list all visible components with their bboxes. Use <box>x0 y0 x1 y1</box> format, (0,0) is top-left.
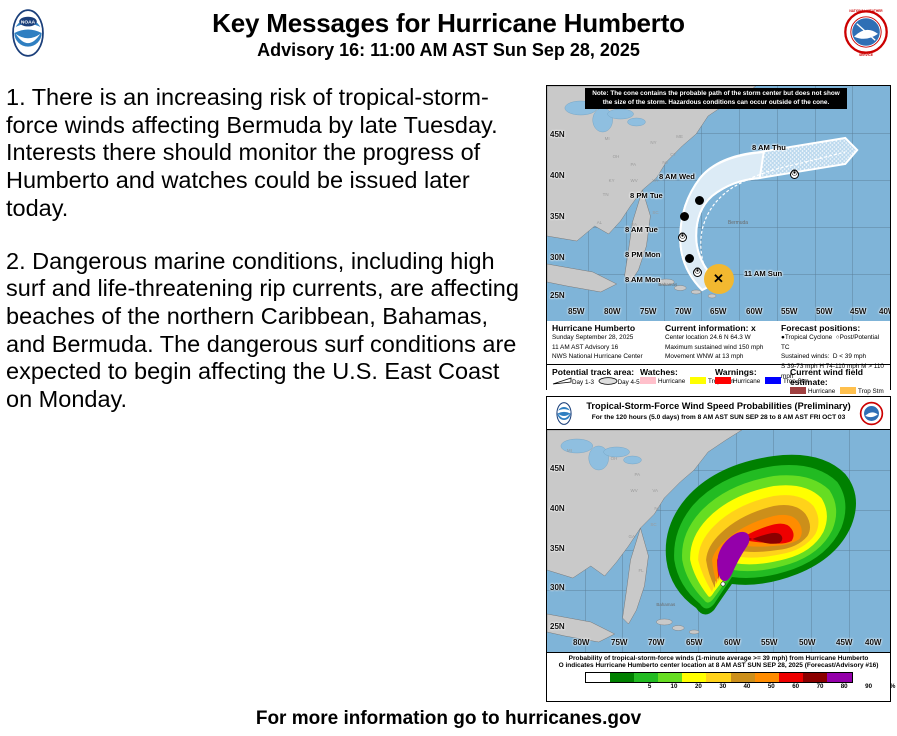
colorbar-tick-30: 30 <box>719 683 726 690</box>
prob-lon-70w: 70W <box>648 638 664 647</box>
colorbar-band-90 <box>827 673 851 682</box>
svg-text:PA: PA <box>634 472 640 477</box>
svg-text:OH: OH <box>613 154 620 159</box>
legend-movement: Movement WNW at 13 mph <box>665 352 783 362</box>
page-header: NOAA NATIONAL WEATHER SERVICE Key Messag… <box>0 0 897 72</box>
prob-lat-25n: 25N <box>550 622 565 631</box>
colorbar-band-5 <box>610 673 634 682</box>
wind-hurricane-swatch <box>790 387 806 394</box>
track-lon-65w: 65W <box>710 307 726 316</box>
track-lon-80w: 80W <box>604 307 620 316</box>
track-legend: Hurricane Humberto Sunday September 28, … <box>547 321 890 392</box>
svg-text:WV: WV <box>631 488 638 493</box>
track-label-8pm-mon: 8 PM Mon <box>625 250 660 259</box>
prob-colorbar-legend: Probability of tropical-storm-force wind… <box>547 652 890 694</box>
track-map: MINYME PAOHWV VAKYTN NCSCGA ALFL NJCT Be… <box>547 86 890 321</box>
colorbar-tick-5: 5 <box>648 683 651 690</box>
prob-lat-35n: 35N <box>550 544 565 553</box>
track-lon-50w: 50W <box>816 307 832 316</box>
track-lon-60w: 60W <box>746 307 762 316</box>
forecast-dot-8pm-tue <box>680 212 689 221</box>
warn-hurricane-swatch <box>715 377 731 384</box>
prob-lon-60w: 60W <box>724 638 740 647</box>
prob-lat-40n: 40N <box>550 504 565 513</box>
prob-map-title: Tropical-Storm-Force Wind Speed Probabil… <box>547 401 890 411</box>
colorbar-band-10 <box>634 673 658 682</box>
watch-tropstm-swatch <box>690 377 706 384</box>
legend-sustained-row: Sustained winds: D < 39 mph <box>781 352 889 362</box>
svg-text:SC: SC <box>652 210 659 215</box>
legend-storm-advisory: 11 AM AST Advisory 16 <box>552 343 677 353</box>
svg-text:VA: VA <box>652 178 658 183</box>
legend-current-heading: Current information: x <box>665 323 783 333</box>
prob-colorbar <box>585 672 853 683</box>
svg-text:MI: MI <box>605 136 610 141</box>
cone-note: Note: The cone contains the probable pat… <box>585 88 847 109</box>
prob-lon-axis: 80W 75W 70W 65W 60W 55W 50W 45W 40W <box>547 638 890 651</box>
svg-text:OH: OH <box>611 456 618 461</box>
prob-map-header: Tropical-Storm-Force Wind Speed Probabil… <box>547 397 890 430</box>
nws-logo-small <box>859 400 884 427</box>
prob-lat-30n: 30N <box>550 583 565 592</box>
colorbar-tick-20: 20 <box>695 683 702 690</box>
track-label-11am-sun: 11 AM Sun <box>744 269 782 278</box>
track-label-8am-wed: 8 AM Wed <box>659 172 695 181</box>
warn-tropstm-swatch <box>765 377 781 384</box>
colorbar-band-30 <box>682 673 706 682</box>
svg-text:TN: TN <box>603 192 609 197</box>
current-position-marker: ✕ <box>713 273 724 285</box>
svg-text:PA: PA <box>631 162 637 167</box>
forecast-dot-8am-mon: ⦿ <box>693 268 702 277</box>
legend-storm-agency: NWS National Hurricane Center <box>552 352 677 362</box>
svg-text:GA: GA <box>629 534 635 539</box>
track-lon-70w: 70W <box>675 307 691 316</box>
key-messages-page: NOAA NATIONAL WEATHER SERVICE Key Messag… <box>0 0 897 736</box>
svg-text:NC: NC <box>654 506 661 511</box>
colorbar-tick-80: 80 <box>841 683 848 690</box>
legend-track-heading: Potential track area: <box>552 367 640 377</box>
prob-map-subtitle: For the 120 hours (5.0 days) from 8 AM A… <box>547 414 890 421</box>
svg-text:ME: ME <box>676 134 683 139</box>
colorbar-band-20 <box>658 673 682 682</box>
track-forecast-panel: MINYME PAOHWV VAKYTN NCSCGA ALFL NJCT Be… <box>546 85 891 390</box>
track-lon-75w: 75W <box>640 307 656 316</box>
legend-symbol-row: ●Tropical Cyclone ○Post/Potential TC <box>781 333 889 352</box>
colorbar-band-lt5 <box>586 673 610 682</box>
track-lat-35n: 35N <box>550 212 565 221</box>
wind-probability-panel: Tropical-Storm-Force Wind Speed Probabil… <box>546 396 891 702</box>
prob-lon-65w: 65W <box>686 638 702 647</box>
track-lon-axis: 85W 80W 75W 70W 65W 60W 55W 50W 45W 40W <box>547 307 890 320</box>
legend-track-swatches: Day 1-3 Day 4-5 <box>552 377 640 386</box>
track-lon-40w: 40W <box>879 307 890 316</box>
track-lat-45n: 45N <box>550 130 565 139</box>
svg-text:CT: CT <box>670 152 676 157</box>
key-messages-list: 1. There is an increasing risk of tropic… <box>6 84 526 414</box>
page-title: Key Messages for Hurricane Humberto <box>0 8 897 39</box>
track-label-8am-mon: 8 AM Mon <box>625 275 661 284</box>
prob-caption-2: O indicates Hurricane Humberto center lo… <box>547 662 890 669</box>
colorbar-tick-90: 90 <box>865 683 872 690</box>
prob-lon-80w: 80W <box>573 638 589 647</box>
colorbar-tick-60: 60 <box>792 683 799 690</box>
forecast-dot-8am-thu: ⦿ <box>790 170 799 179</box>
watch-hurricane-swatch <box>640 377 656 384</box>
colorbar-tick-50: 50 <box>768 683 775 690</box>
svg-text:SC: SC <box>650 522 657 527</box>
key-message-1: 1. There is an increasing risk of tropic… <box>6 84 526 223</box>
key-message-2: 2. Dangerous marine conditions, includin… <box>6 248 526 414</box>
prob-colorbar-ticks: 5 10 20 30 40 50 60 70 80 90 % <box>585 683 853 694</box>
colorbar-tick-10: 10 <box>671 683 678 690</box>
day45-cone-icon <box>598 377 618 385</box>
colorbar-band-80 <box>803 673 827 682</box>
current-position-symbol: x <box>751 323 756 333</box>
legend-forecast-heading: Forecast positions: <box>781 323 889 333</box>
legend-center-location: Center location 24.6 N 64.3 W <box>665 333 783 343</box>
svg-text:VA: VA <box>652 488 658 493</box>
prob-lon-55w: 55W <box>761 638 777 647</box>
track-lat-25n: 25N <box>550 291 565 300</box>
svg-text:NJ: NJ <box>662 160 667 165</box>
svg-text:MI: MI <box>567 448 572 453</box>
colorbar-band-50 <box>731 673 755 682</box>
legend-storm-date: Sunday September 28, 2025 <box>552 333 677 343</box>
colorbar-band-60 <box>755 673 779 682</box>
track-lon-85w: 85W <box>568 307 584 316</box>
day13-cone-icon <box>552 377 572 385</box>
prob-lat-45n: 45N <box>550 464 565 473</box>
track-label-8am-tue: 8 AM Tue <box>625 225 658 234</box>
legend-storm-name: Hurricane Humberto <box>552 323 677 333</box>
legend-wind-swatches: Hurricane Trop Stm <box>790 387 890 395</box>
legend-wind-heading: Current wind field estimate: <box>790 367 890 387</box>
prob-map: OHPAWV VANCSC GAFLMI Bahamas 45N 4 <box>547 430 890 652</box>
svg-text:NY: NY <box>650 140 656 145</box>
prob-lon-40w: 40W <box>865 638 881 647</box>
forecast-dot-8am-wed <box>695 196 704 205</box>
svg-text:Bahamas: Bahamas <box>656 602 676 607</box>
wind-tropstm-swatch <box>840 387 856 394</box>
prob-caption-1: Probability of tropical-storm-force wind… <box>547 655 890 662</box>
svg-text:FL: FL <box>638 568 644 573</box>
svg-text:Bahamas: Bahamas <box>658 282 678 287</box>
track-lat-30n: 30N <box>550 253 565 262</box>
track-label-8am-thu: 8 AM Thu <box>752 143 786 152</box>
svg-text:Bermuda: Bermuda <box>728 220 748 226</box>
forecast-dot-8am-tue: ⦿ <box>678 233 687 242</box>
colorbar-tick-pct: % <box>890 683 896 690</box>
svg-text:AL: AL <box>597 220 603 225</box>
prob-contours-graphic: OHPAWV VANCSC GAFLMI Bahamas <box>547 430 890 652</box>
track-label-8pm-tue: 8 PM Tue <box>630 191 663 200</box>
footer-text: For more information go to hurricanes.go… <box>0 708 897 730</box>
track-lat-40n: 40N <box>550 171 565 180</box>
colorbar-tick-70: 70 <box>817 683 824 690</box>
page-subtitle: Advisory 16: 11:00 AM AST Sun Sep 28, 20… <box>0 40 897 61</box>
prob-lon-45w: 45W <box>836 638 852 647</box>
track-lon-45w: 45W <box>850 307 866 316</box>
forecast-dot-8pm-mon <box>685 254 694 263</box>
colorbar-band-40 <box>706 673 730 682</box>
legend-max-wind: Maximum sustained wind 150 mph <box>665 343 783 353</box>
prob-lon-50w: 50W <box>799 638 815 647</box>
track-lon-55w: 55W <box>781 307 797 316</box>
colorbar-band-70 <box>779 673 803 682</box>
prob-lon-75w: 75W <box>611 638 627 647</box>
colorbar-tick-40: 40 <box>743 683 750 690</box>
svg-text:WV: WV <box>631 178 638 183</box>
svg-text:KY: KY <box>609 178 615 183</box>
